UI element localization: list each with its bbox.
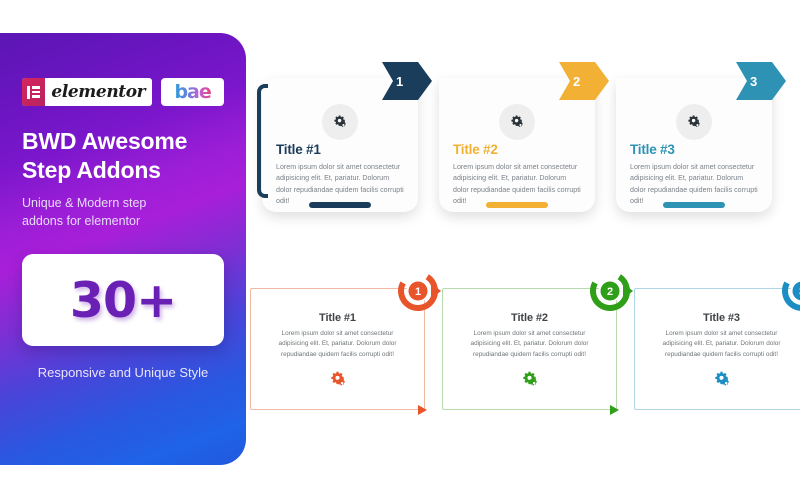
card-description: Lorem ipsum dolor sit amet consectetur a… <box>260 329 415 360</box>
promo-subtitle: Unique & Modern step addons for elemento… <box>22 195 224 231</box>
bae-logo: bae <box>161 78 224 106</box>
elementor-e-icon <box>22 78 45 106</box>
bae-logo-text: bae <box>174 83 210 102</box>
logo-row: elementor bae <box>22 78 224 106</box>
gears-icon <box>499 104 535 140</box>
svg-text:1: 1 <box>415 286 421 298</box>
card-description: Lorem ipsum dolor sit amet consectetur a… <box>644 329 799 360</box>
card-title: Title #1 <box>276 142 321 157</box>
step-number-badge: 3 <box>775 266 800 316</box>
promo-footer-text: Responsive and Unique Style <box>22 365 224 380</box>
step-number-badge: 2 <box>583 266 639 316</box>
promo-title-line1: BWD Awesome <box>22 128 187 154</box>
promo-subtitle-line2: addons for elementor <box>22 214 140 228</box>
step-number-badge: 1 <box>391 266 447 316</box>
elementor-logo-text: elementor <box>45 78 152 106</box>
bottom-card-row: Title #1Lorem ipsum dolor sit amet conse… <box>250 288 800 410</box>
count-badge-card: 30+ <box>22 254 224 346</box>
promo-subtitle-line1: Unique & Modern step <box>22 196 146 210</box>
card-side-accent <box>257 84 268 198</box>
count-badge-value: 30+ <box>70 272 176 329</box>
step-card-outline[interactable]: Title #1Lorem ipsum dolor sit amet conse… <box>250 288 425 410</box>
step-card-outline[interactable]: Title #3Lorem ipsum dolor sit amet conse… <box>634 288 800 410</box>
step-card-ribbon[interactable]: Title #2Lorem ipsum dolor sit amet conse… <box>431 62 595 222</box>
card-title: Title #2 <box>453 142 498 157</box>
step-card-outline[interactable]: Title #2Lorem ipsum dolor sit amet conse… <box>442 288 617 410</box>
card-description: Lorem ipsum dolor sit amet consectetur a… <box>276 162 404 208</box>
top-card-row: Title #1Lorem ipsum dolor sit amet conse… <box>254 62 772 222</box>
card-description: Lorem ipsum dolor sit amet consectetur a… <box>453 162 581 208</box>
promo-title-line2: Step Addons <box>22 157 161 183</box>
promo-title: BWD Awesome Step Addons <box>22 127 224 185</box>
gears-icon <box>328 370 347 394</box>
step-card-ribbon[interactable]: Title #3Lorem ipsum dolor sit amet conse… <box>608 62 772 222</box>
gears-icon <box>322 104 358 140</box>
promo-panel: elementor bae BWD Awesome Step Addons Un… <box>0 33 246 465</box>
step-card-ribbon[interactable]: Title #1Lorem ipsum dolor sit amet conse… <box>254 62 418 222</box>
card-description: Lorem ipsum dolor sit amet consectetur a… <box>630 162 758 208</box>
gears-icon <box>712 370 731 394</box>
card-title: Title #3 <box>630 142 675 157</box>
svg-text:2: 2 <box>607 286 613 298</box>
flow-arrow-icon <box>418 405 427 415</box>
elementor-logo: elementor <box>22 78 152 106</box>
preview-stage: Title #1Lorem ipsum dolor sit amet conse… <box>246 0 800 498</box>
card-description: Lorem ipsum dolor sit amet consectetur a… <box>452 329 607 360</box>
gears-icon <box>676 104 712 140</box>
gears-icon <box>520 370 539 394</box>
flow-arrow-icon <box>610 405 619 415</box>
